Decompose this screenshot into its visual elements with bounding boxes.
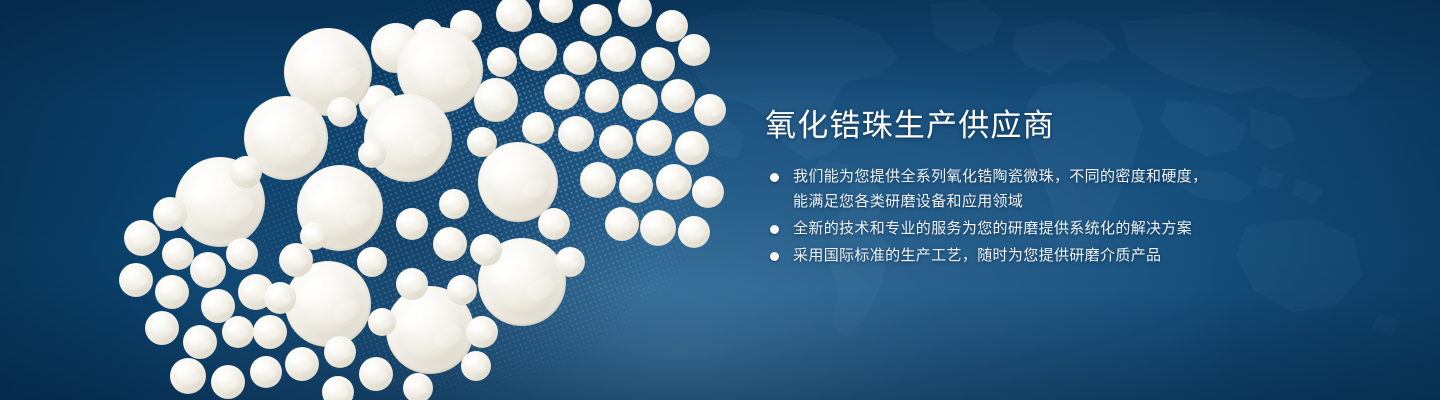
feature-list: 我们能为您提供全系列氧化锆陶瓷微珠，不同的密度和硬度， 能满足您各类研磨设备和应… bbox=[765, 164, 1405, 268]
feature-item-3-line-1: 采用国际标准的生产工艺，随时为您提供研磨介质产品 bbox=[793, 243, 1405, 268]
feature-item-2: 全新的技术和专业的服务为您的研磨提供系统化的解决方案 bbox=[765, 216, 1405, 241]
banner-headline: 氧化锆珠生产供应商 bbox=[765, 106, 1405, 146]
bullet-dot-icon bbox=[770, 225, 779, 234]
feature-item-2-line-1: 全新的技术和专业的服务为您的研磨提供系统化的解决方案 bbox=[793, 216, 1405, 241]
feature-item-1-line-1: 我们能为您提供全系列氧化锆陶瓷微珠，不同的密度和硬度， bbox=[793, 164, 1405, 189]
banner-copy: 氧化锆珠生产供应商 我们能为您提供全系列氧化锆陶瓷微珠，不同的密度和硬度， 能满… bbox=[765, 106, 1405, 268]
feature-item-1-line-2: 能满足您各类研磨设备和应用领域 bbox=[793, 189, 1405, 214]
bullet-dot-icon bbox=[770, 252, 779, 261]
bullet-dot-icon bbox=[770, 173, 779, 182]
feature-item-3: 采用国际标准的生产工艺，随时为您提供研磨介质产品 bbox=[765, 243, 1405, 268]
hero-banner: 氧化锆珠生产供应商 我们能为您提供全系列氧化锆陶瓷微珠，不同的密度和硬度， 能满… bbox=[0, 0, 1440, 400]
feature-item-1: 我们能为您提供全系列氧化锆陶瓷微珠，不同的密度和硬度， 能满足您各类研磨设备和应… bbox=[765, 164, 1405, 214]
